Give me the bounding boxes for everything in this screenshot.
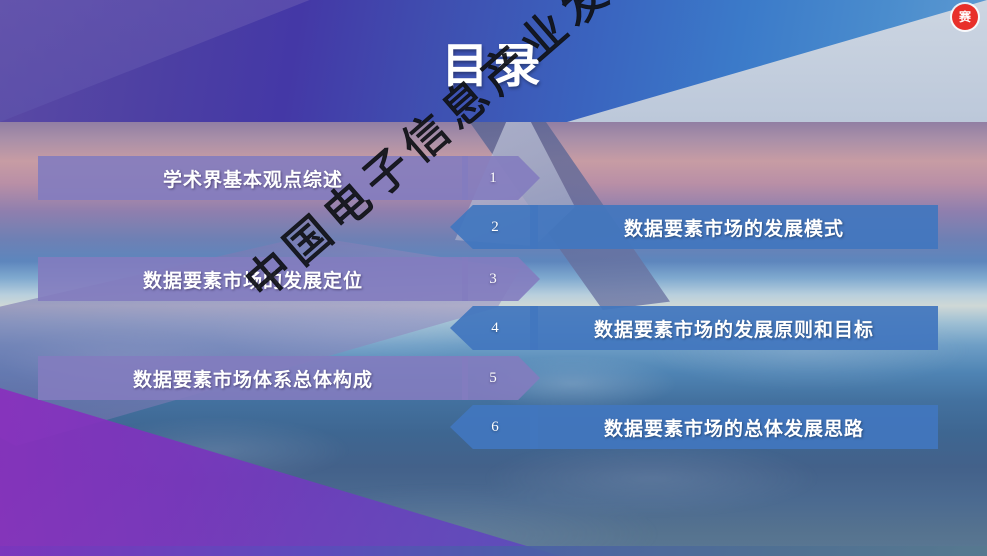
toc-item-5-label: 数据要素市场体系总体构成	[38, 356, 468, 400]
toc-item-6-label: 数据要素市场的总体发展思路	[530, 405, 938, 449]
logo-glyph: 赛	[959, 11, 971, 23]
toc-item-2-number: 2	[464, 205, 526, 249]
toc-item-6[interactable]: 6 数据要素市场的总体发展思路	[450, 405, 938, 449]
toc-item-3-label: 数据要素市场的发展定位	[38, 257, 468, 301]
toc-item-3-number: 3	[462, 257, 524, 301]
toc-item-2[interactable]: 2 数据要素市场的发展模式	[450, 205, 938, 249]
presentation-slide: 目录 学术界基本观点综述 1 2 数据要素市场的发展模式 数据要素市场的发展定位…	[0, 0, 987, 556]
toc-item-4-number: 4	[464, 306, 526, 350]
toc-item-3[interactable]: 数据要素市场的发展定位 3	[38, 257, 538, 301]
toc-item-4-label: 数据要素市场的发展原则和目标	[530, 306, 938, 350]
table-of-contents: 学术界基本观点综述 1 2 数据要素市场的发展模式 数据要素市场的发展定位 3 …	[0, 0, 987, 556]
toc-item-1[interactable]: 学术界基本观点综述 1	[38, 156, 538, 200]
toc-item-6-number: 6	[464, 405, 526, 449]
toc-item-1-number: 1	[462, 156, 524, 200]
toc-item-5-number: 5	[462, 356, 524, 400]
organization-logo: 赛	[952, 4, 978, 30]
toc-item-2-label: 数据要素市场的发展模式	[530, 205, 938, 249]
toc-item-1-label: 学术界基本观点综述	[38, 156, 468, 200]
toc-item-5[interactable]: 数据要素市场体系总体构成 5	[38, 356, 538, 400]
toc-item-4[interactable]: 4 数据要素市场的发展原则和目标	[450, 306, 938, 350]
